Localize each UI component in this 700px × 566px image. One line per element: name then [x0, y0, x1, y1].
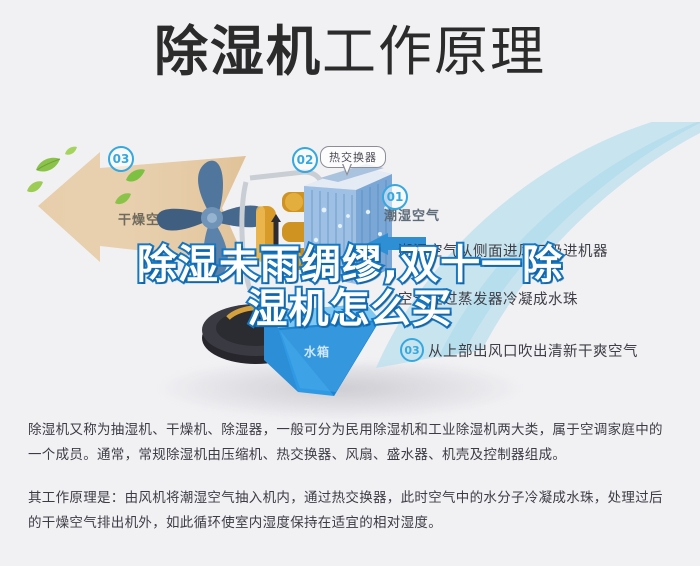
callout-heat-exchanger: 热交换器 — [320, 146, 386, 168]
leaf-icon — [34, 156, 62, 174]
leaf-icon — [64, 146, 78, 156]
dehumidifier-diagram: 干燥空气 — [0, 108, 700, 408]
callout-heat-exchanger-text: 热交换器 — [329, 151, 377, 164]
step-text-02: 空气经过蒸发器冷凝成水珠 — [398, 288, 578, 309]
title-part-2: 工作原理 — [322, 20, 546, 83]
page-root: 除湿机工作原理 干燥空气 — [0, 0, 700, 566]
body-copy: 除湿机又称为抽湿机、干燥机、除湿器，一般可分为民用除湿机和工业除湿机两大类，属于… — [28, 418, 676, 536]
callout-tail-icon — [342, 164, 352, 176]
leaf-icon — [26, 180, 44, 194]
badge-02: 02 — [292, 147, 318, 173]
paragraph-2: 其工作原理是：由风机将潮湿空气抽入机内，通过热交换器，此时空气中的水分子冷凝成水… — [28, 486, 676, 536]
badge-03: 03 — [108, 146, 134, 172]
label-water-tank: 水箱 — [304, 343, 330, 360]
paragraph-1: 除湿机又称为抽湿机、干燥机、除湿器，一般可分为民用除湿机和工业除湿机两大类，属于… — [28, 418, 676, 468]
step-text-01: 潮湿空气从侧面进风口吸进机器 — [398, 240, 608, 261]
heat-exchanger-icon — [300, 164, 396, 292]
badge-01: 01 — [382, 184, 408, 210]
page-title: 除湿机工作原理 — [0, 22, 700, 82]
step-badge-03: 03 — [400, 338, 424, 362]
step-text-03: 从上部出风口吹出清新干爽空气 — [428, 340, 638, 361]
leaf-icon — [124, 168, 146, 184]
leaf-icon — [114, 192, 132, 206]
title-part-1: 除湿机 — [154, 20, 322, 83]
